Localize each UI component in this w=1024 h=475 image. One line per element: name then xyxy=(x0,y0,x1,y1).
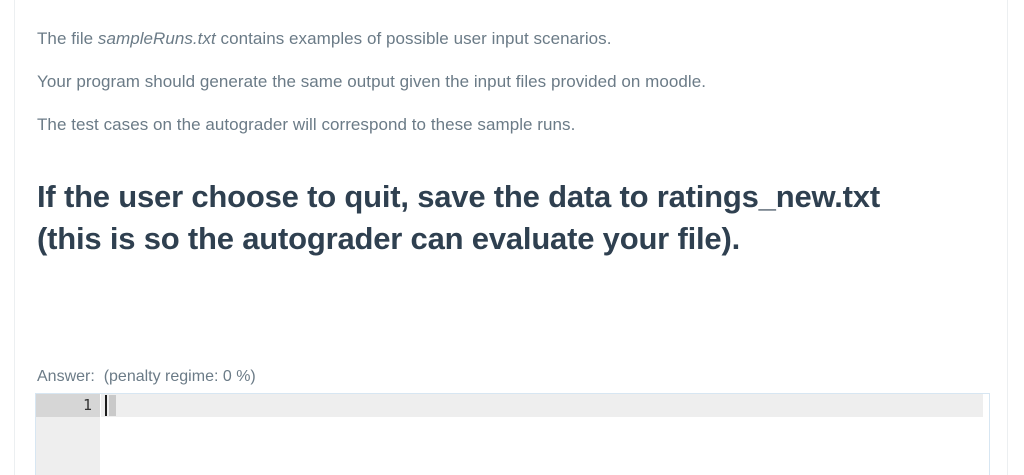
editor-caret xyxy=(105,395,107,416)
page-frame: The file sampleRuns.txt contains example… xyxy=(0,0,1024,475)
editor-active-line[interactable] xyxy=(101,394,983,417)
page-border-right xyxy=(1007,0,1008,475)
code-editor[interactable]: 1 xyxy=(35,393,990,475)
editor-line-number: 1 xyxy=(36,394,92,417)
editor-gutter: 1 xyxy=(36,394,100,475)
paragraph-1-filename: sampleRuns.txt xyxy=(98,29,216,48)
page-border-left xyxy=(14,0,15,475)
editor-caret-shadow xyxy=(109,395,116,416)
paragraph-1-text-after: contains examples of possible user input… xyxy=(216,29,612,48)
question-paragraph-1: The file sampleRuns.txt contains example… xyxy=(37,28,611,50)
answer-label: Answer: (penalty regime: 0 %) xyxy=(37,367,256,387)
question-heading: If the user choose to quit, save the dat… xyxy=(37,176,907,260)
question-paragraph-2: Your program should generate the same ou… xyxy=(37,71,706,93)
paragraph-1-text-before: The file xyxy=(37,29,98,48)
question-paragraph-3: The test cases on the autograder will co… xyxy=(37,114,575,136)
